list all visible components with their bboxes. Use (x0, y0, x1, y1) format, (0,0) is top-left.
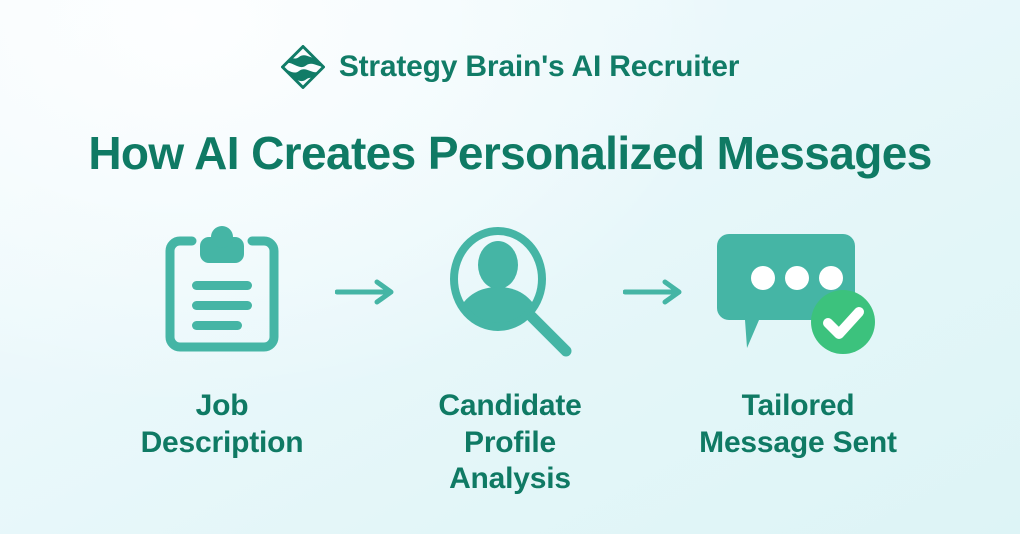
chat-bubble-check-icon (715, 224, 881, 360)
brand-header: Strategy Brain's AI Recruiter (0, 45, 1020, 89)
flow-step-job-description: Job Description (117, 222, 327, 461)
step-icon-wrapper (162, 222, 282, 362)
flow-step-label: Candidate Profile Analysis (405, 388, 615, 498)
strategy-brain-diamond-waves-logo-icon (281, 45, 325, 89)
brand-name: Strategy Brain's AI Recruiter (339, 52, 739, 82)
infographic-canvas: Strategy Brain's AI Recruiter How AI Cre… (0, 0, 1020, 534)
magnifier-person-profile-icon (440, 223, 580, 361)
flow-arrow-2 (615, 222, 693, 362)
flow-step-label: Tailored Message Sent (699, 388, 897, 461)
process-flow: Job Description (0, 222, 1020, 498)
arrow-right-icon (335, 279, 397, 305)
step-icon-wrapper (715, 222, 881, 362)
arrow-right-icon (623, 279, 685, 305)
flow-step-tailored-message-sent: Tailored Message Sent (693, 222, 903, 461)
flow-step-label: Job Description (141, 388, 304, 461)
step-icon-wrapper (440, 222, 580, 362)
clipboard-document-icon (162, 225, 282, 359)
flow-step-candidate-profile-analysis: Candidate Profile Analysis (405, 222, 615, 498)
page-title: How AI Creates Personalized Messages (0, 128, 1020, 179)
flow-arrow-1 (327, 222, 405, 362)
